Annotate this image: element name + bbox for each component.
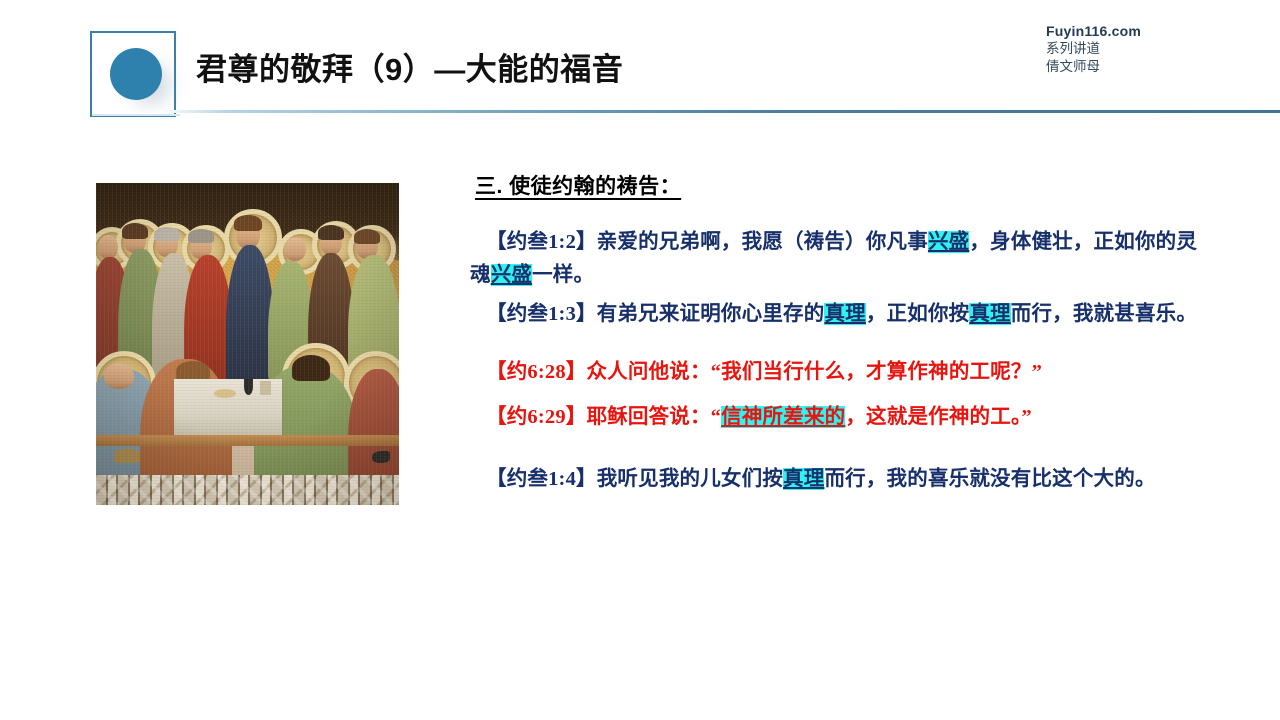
verse-john-6-29: 【约6:29】耶稣回答说：“信神所差来的，这就是作神的工。”: [470, 401, 1210, 434]
header-divider: [160, 110, 1280, 113]
apostle-head: [98, 235, 118, 259]
section-heading: 三. 使徒约翰的祷告：: [475, 170, 1210, 200]
highlight-term: 真理: [824, 303, 865, 325]
hair: [122, 223, 148, 239]
verse-text: 亲爱的兄弟啊，我愿（祷告）你凡事: [597, 231, 928, 253]
bird: [372, 451, 390, 463]
brand-website: Fuyin116.com: [1046, 22, 1256, 40]
highlight-term: 真理: [969, 303, 1010, 325]
cup: [260, 381, 271, 395]
verse-text: 有弟兄来证明你心里存的: [597, 303, 825, 325]
verse-text: 而行，我的喜乐就没有比这个大的。: [824, 468, 1155, 490]
verse-reference: 【约叁1:2】: [486, 231, 597, 253]
hair: [176, 361, 210, 381]
highlight-term: 兴盛: [491, 264, 532, 286]
brand-speaker-name: 倩文师母: [1046, 58, 1256, 76]
highlight-term: 真理: [783, 468, 824, 490]
verse-reference: 【约6:28】: [486, 361, 586, 383]
verse-text: 我听见我的儿女们按: [597, 468, 783, 490]
verse-john-6-28: 【约6:28】众人问他说：“我们当行什么，才算作神的工呢？”: [470, 356, 1210, 389]
bench: [96, 435, 399, 446]
brand-series-label: 系列讲道: [1046, 40, 1256, 58]
highlight-term: 信神所差来的: [721, 406, 845, 428]
hair: [354, 229, 380, 244]
floor-pattern: [96, 475, 399, 505]
hair: [292, 355, 330, 381]
highlight-term: 兴盛: [928, 231, 969, 253]
verse-3john-1-4: 【约叁1:4】我听见我的儿女们按真理而行，我的喜乐就没有比这个大的。: [470, 464, 1210, 495]
page-title: 君尊的敬拜（9）—大能的福音: [196, 44, 623, 89]
verse-text: ，正如你按: [866, 303, 970, 325]
bread-loaf: [214, 389, 236, 398]
header-divider-accent: [92, 114, 180, 116]
chalice: [244, 379, 253, 395]
slide-header: 君尊的敬拜（9）—大能的福音 Fuyin116.com 系列讲道 倩文师母: [0, 0, 1280, 120]
verse-3john-1-3: 【约叁1:3】有弟兄来证明你心里存的真理，正如你按真理而行，我就甚喜乐。: [470, 298, 1210, 331]
verse-text: ，这就是作神的工。”: [845, 406, 1032, 428]
christ-robe: [226, 245, 274, 385]
verse-text: 而行，我就甚喜乐。: [1011, 303, 1197, 325]
verse-reference: 【约叁1:4】: [486, 468, 597, 490]
verse-text: 一样。: [532, 264, 594, 286]
verse-text: 众人问他说：“我们当行什么，才算作神的工呢？”: [586, 361, 1042, 383]
hair: [188, 229, 214, 243]
hair: [154, 227, 180, 241]
verse-reference: 【约叁1:3】: [486, 303, 597, 325]
last-supper-painting: [96, 183, 399, 505]
cat: [114, 449, 140, 463]
verse-reference: 【约6:29】: [486, 406, 586, 428]
foreground-head: [104, 363, 134, 389]
apostle-head: [284, 237, 306, 261]
play-button-icon[interactable]: [110, 48, 162, 100]
hair: [234, 215, 262, 231]
verse-text: 耶稣回答说：“: [586, 406, 721, 428]
verse-3john-1-2: 【约叁1:2】亲爱的兄弟啊，我愿（祷告）你凡事兴盛，身体健壮，正如你的灵魂兴盛一…: [470, 226, 1210, 292]
play-triangle-icon: [238, 110, 258, 134]
slide-content: 三. 使徒约翰的祷告： 【约叁1:2】亲爱的兄弟啊，我愿（祷告）你凡事兴盛，身体…: [470, 170, 1210, 501]
hair: [318, 225, 344, 240]
brand-block: Fuyin116.com 系列讲道 倩文师母: [1046, 22, 1256, 76]
